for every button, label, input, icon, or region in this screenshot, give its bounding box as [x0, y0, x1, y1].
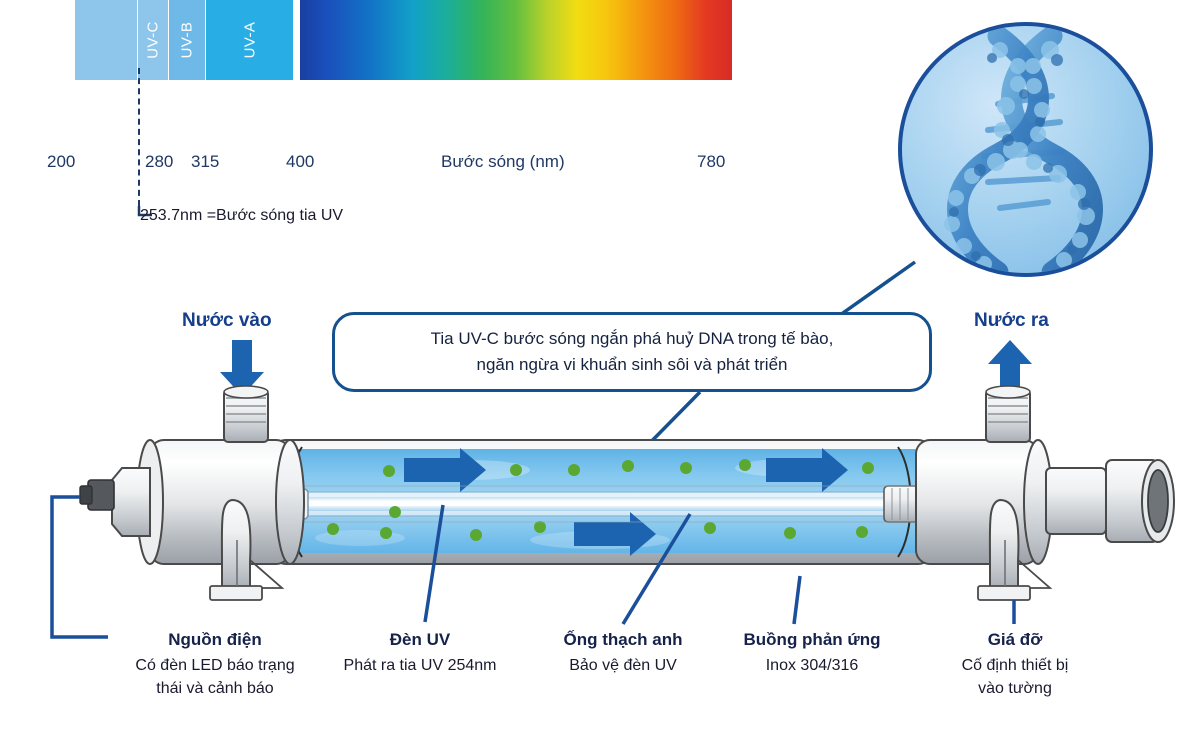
right-bracket-gusset — [1018, 560, 1050, 588]
legend-title-chamber: Buồng phản ứng — [722, 630, 902, 650]
wavelength-axis-caption: Bước sóng (nm) — [441, 152, 565, 172]
chamber-left-inner-edge — [289, 447, 302, 557]
water-flow-arrows — [404, 448, 848, 556]
legend-desc-quartz: Bảo vệ đèn UV — [528, 654, 718, 677]
cable-gland-tip — [80, 486, 92, 504]
outlet-label: Nước ra — [974, 310, 1049, 332]
callout-line-1: Tia UV-C bước sóng ngắn phá huỷ DNA tron… — [431, 329, 834, 348]
reaction-chamber-body — [272, 440, 932, 564]
chamber-seams — [280, 486, 916, 522]
legend-desc-chamber: Inox 304/316 — [722, 654, 902, 677]
left-end-assembly — [80, 386, 304, 600]
power-leader-line — [52, 497, 108, 637]
left-housing-collar — [276, 440, 304, 564]
inlet-arrow-down-icon — [220, 340, 264, 396]
left-housing-face — [137, 440, 163, 564]
chamber-right-inner-edge — [898, 447, 911, 557]
infographic-root: Ultraviolet Ánh sáng nhìn thấy UV-C UV-B… — [0, 0, 1200, 739]
uv-band-below-254 — [75, 0, 138, 80]
left-mounting-bracket — [222, 500, 251, 590]
legend-title-power: Nguồn điện — [110, 630, 320, 650]
tick-280: 280 — [145, 152, 173, 172]
legend-item-power: Nguồn điện Có đèn LED báo trạng thái và … — [110, 630, 320, 700]
dna-magnifier-circle — [898, 22, 1153, 277]
legend-desc-bracket: Cố định thiết bị vào tường — [920, 654, 1110, 700]
inlet-port-rim — [224, 386, 268, 398]
left-housing — [150, 440, 290, 564]
right-bracket-foot — [978, 586, 1030, 600]
legend-title-lamp: Đèn UV — [320, 630, 520, 650]
left-reducer — [112, 468, 150, 536]
uv-band-uva: UV-A — [206, 0, 293, 80]
uvc-callout-box: Tia UV-C bước sóng ngắn phá huỷ DNA tron… — [332, 312, 932, 392]
outlet-port — [986, 390, 1030, 442]
inlet-label: Nước vào — [182, 310, 272, 332]
water-region — [280, 449, 920, 553]
legend-desc-bracket-l2: vào tường — [978, 680, 1052, 697]
quartz-leader-line — [623, 514, 690, 624]
lamp-connector-nut — [884, 486, 918, 522]
legend-desc-power-l2: thái và cảnh báo — [156, 680, 273, 697]
tick-400: 400 — [286, 152, 314, 172]
uv-lamp-tube — [296, 497, 906, 511]
legend-item-lamp: Đèn UV Phát ra tia UV 254nm — [320, 630, 520, 677]
legend-title-bracket: Giá đỡ — [920, 630, 1110, 650]
outlet-port-rim — [986, 386, 1030, 398]
callout-line-2: ngăn ngừa vi khuẩn sinh sôi và phát triể… — [477, 355, 788, 374]
legend-desc-power: Có đèn LED báo trạng thái và cảnh báo — [110, 654, 320, 700]
uvc-wavelength-note: 253.7nm =Bước sóng tia UV — [140, 207, 343, 225]
legend-item-bracket: Giá đỡ Cố định thiết bị vào tường — [920, 630, 1110, 700]
legend-item-chamber: Buồng phản ứng Inox 304/316 — [722, 630, 902, 677]
outlet-port-threads — [988, 398, 1028, 422]
outlet-pipe-flange — [1106, 460, 1158, 542]
legend-desc-lamp: Phát ra tia UV 254nm — [320, 654, 520, 677]
dna-helix-icon — [902, 26, 1153, 277]
legend-item-quartz: Ống thạch anh Bảo vệ đèn UV — [528, 630, 718, 677]
uv-band-uvb: UV-B — [169, 0, 206, 80]
lamp-end-cap-left — [286, 489, 308, 519]
quartz-sleeve — [288, 492, 912, 516]
tick-315: 315 — [191, 152, 219, 172]
flow-arrow-bottom — [574, 512, 656, 556]
legend-desc-bracket-l1: Cố định thiết bị — [962, 657, 1069, 674]
outlet-pipe-bore — [1148, 470, 1168, 532]
outlet-arrow-up-icon — [988, 340, 1032, 396]
callout-text: Tia UV-C bước sóng ngắn phá huỷ DNA tron… — [431, 326, 834, 379]
chamber-leader-line — [794, 576, 800, 624]
cable-gland — [88, 480, 114, 510]
tick-200: 200 — [47, 152, 75, 172]
lamp-connector-stem — [916, 494, 946, 514]
uv-lamp-glow — [300, 501, 902, 506]
tick-780: 780 — [697, 152, 725, 172]
uv-band-uvc: UV-C — [138, 0, 169, 80]
inlet-port — [224, 390, 268, 442]
right-housing-collar — [1024, 440, 1052, 564]
right-end-assembly — [916, 386, 1174, 600]
callout-leader-line — [632, 392, 700, 461]
germ-dots — [327, 459, 874, 541]
uv-band-label-uvb: UV-B — [179, 22, 196, 59]
uvc-marker-dashed-line — [138, 68, 140, 206]
uv-band-label-uvc: UV-C — [145, 21, 162, 58]
inlet-port-threads — [226, 398, 266, 422]
uv-lamp-assembly — [286, 486, 946, 522]
flow-arrow-top-right — [766, 448, 848, 492]
legend-title-quartz: Ống thạch anh — [528, 630, 718, 650]
right-mounting-bracket — [990, 500, 1019, 590]
flow-arrow-top — [404, 448, 486, 492]
visible-spectrum-bar — [300, 0, 732, 80]
legend-desc-power-l1: Có đèn LED báo trạng — [135, 657, 294, 674]
left-bracket-foot — [210, 586, 262, 600]
left-bracket-gusset — [250, 560, 282, 588]
outlet-pipe-stub — [1046, 468, 1106, 534]
outlet-pipe-face — [1142, 460, 1174, 542]
lamp-leader-line — [425, 505, 443, 622]
right-housing — [916, 440, 1038, 564]
germ-highlight-circle — [617, 455, 639, 477]
uv-band-label-uva: UV-A — [241, 22, 258, 59]
